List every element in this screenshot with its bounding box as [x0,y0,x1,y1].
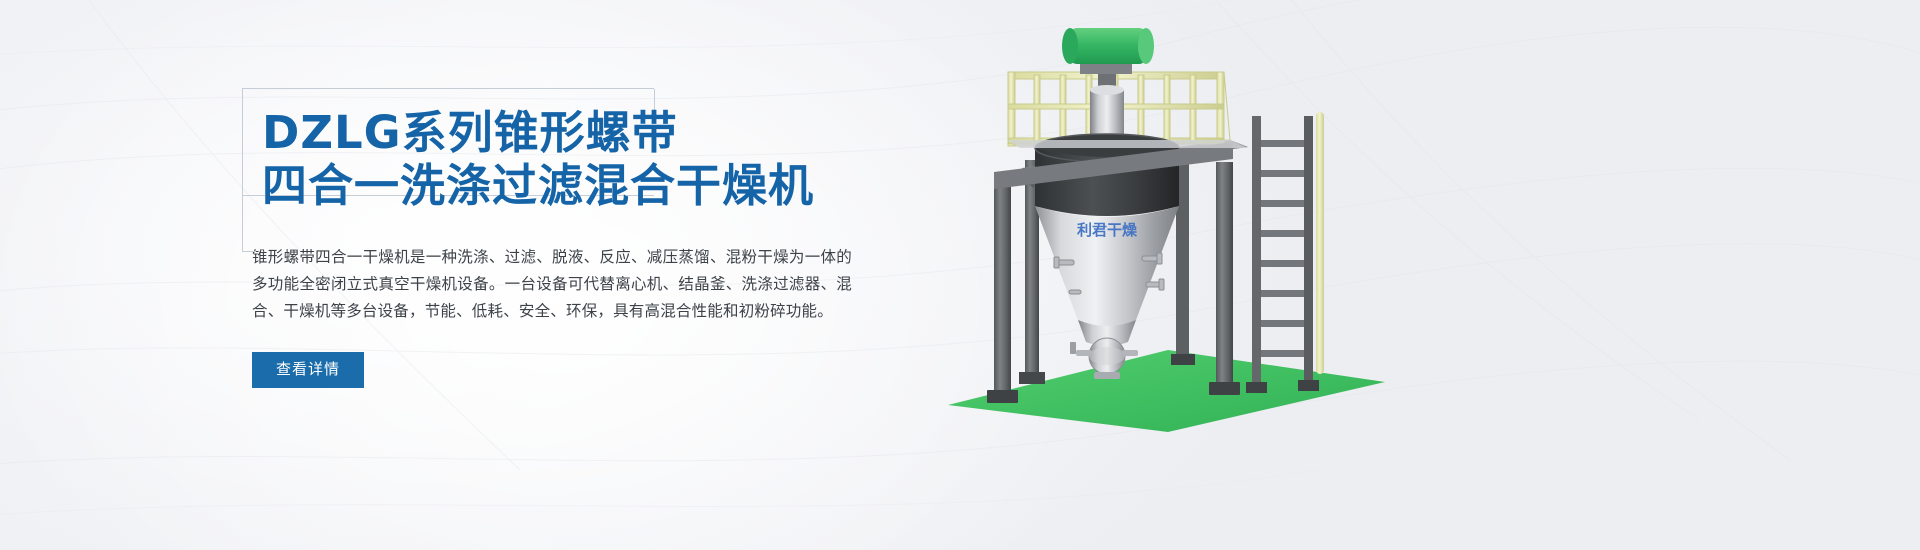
headline-wrapper: DZLG系列锥形螺带 四合一洗涤过滤混合干燥机 [252,88,872,218]
hero-text-block: DZLG系列锥形螺带 四合一洗涤过滤混合干燥机 锥形螺带四合一干燥机是一种洗涤、… [252,88,872,388]
headline-line-2: 四合一洗涤过滤混合干燥机 [252,159,872,212]
headline-line-1: DZLG系列锥形螺带 [252,106,872,159]
watermark-text: 利君干燥 [1077,221,1138,239]
access-ladder [1246,112,1324,393]
platform-deck [1008,140,1248,148]
product-illustration: 利君干燥 [930,20,1400,440]
view-details-button[interactable]: 查看详情 [252,352,364,388]
hero-banner: DZLG系列锥形螺带 四合一洗涤过滤混合干燥机 锥形螺带四合一干燥机是一种洗涤、… [0,0,1920,550]
page-title: DZLG系列锥形螺带 四合一洗涤过滤混合干燥机 [252,106,872,212]
product-description: 锥形螺带四合一干燥机是一种洗涤、过滤、脱液、反应、减压蒸馏、混粉干燥为一体的多功… [252,244,852,325]
